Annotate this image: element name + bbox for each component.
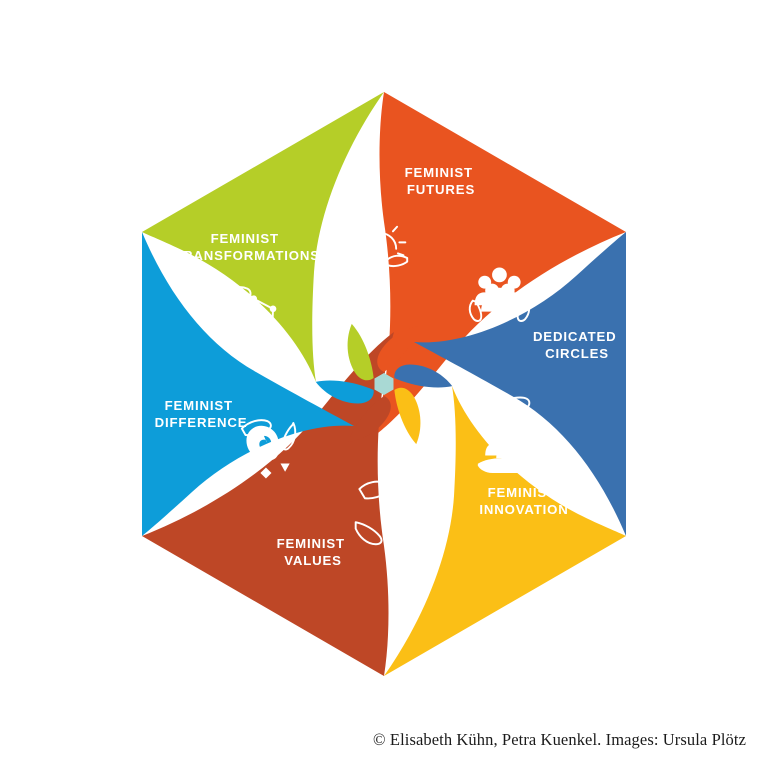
credit-line: © Elisabeth Kühn, Petra Kuenkel. Images:… [373, 730, 746, 750]
hexagon-diagram: FEMINIST FUTURES [0, 0, 768, 768]
lightbulb-people-in-hand-icon [478, 398, 533, 473]
diagram-canvas: FEMINIST FUTURES [0, 0, 768, 768]
